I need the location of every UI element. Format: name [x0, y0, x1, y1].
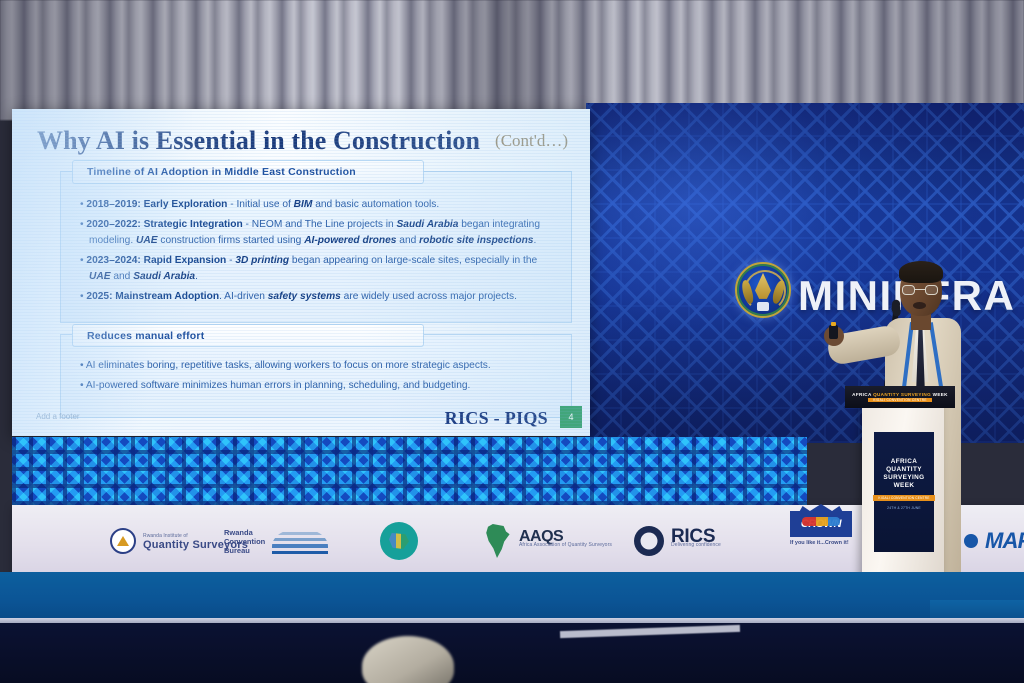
- speaker-glasses-left-lens: [902, 285, 915, 295]
- sponsor-rwanda-map: [380, 511, 418, 571]
- speaker-hair: [899, 261, 943, 283]
- curtain-shadow-right: [604, 0, 1024, 120]
- sponsor-aaqs-big: AAQS: [519, 532, 612, 541]
- sponsor-aaqs: AAQS Africa Association of Quantity Surv…: [482, 511, 612, 571]
- slide-title: Why AI is Essential in the Construction: [37, 126, 480, 156]
- sponsor-rcb-text: Rwanda Convention Bureau: [224, 528, 265, 555]
- curtain-shadow-left: [0, 0, 300, 120]
- speaker-glasses-right-lens: [925, 285, 938, 295]
- podium-banner-suffix: WEEK: [931, 392, 948, 397]
- stage-floor: [0, 572, 1024, 622]
- rics-lion-icon: [634, 526, 664, 556]
- speaker-mouth: [913, 302, 926, 309]
- list-item: AI eliminates boring, repetitive tasks, …: [80, 358, 550, 375]
- sponsor-rcb-line3: Bureau: [224, 546, 265, 555]
- list-item: 2025: Mainstream Adoption. AI-driven saf…: [80, 289, 550, 306]
- sponsor-rcb: Rwanda Convention Bureau: [224, 511, 328, 571]
- rcb-wave-icon: [272, 528, 328, 554]
- africa-map-icon: [482, 524, 512, 558]
- rwanda-coat-of-arms-emblem: [735, 262, 791, 318]
- podium-top-banner-text: AFRICA QUANTITY SURVEYING WEEK: [852, 392, 948, 397]
- crown-logo-icon: CROWN: [790, 511, 852, 537]
- rwanda-map-icon: [380, 522, 418, 560]
- presentation-clicker: [829, 325, 838, 339]
- sponsor-crown-tagline: If you like it...Crown it!: [790, 539, 849, 548]
- sponsor-rics-small: Delivering confidence: [671, 541, 721, 550]
- sponsor-rcb-line2: Convention: [224, 537, 265, 546]
- podium-panel-date: 24TH & 27TH JUNE: [887, 506, 921, 510]
- benefits-bullet-list: AI eliminates boring, repetitive tasks, …: [80, 358, 550, 397]
- speaker-glasses-bridge: [915, 289, 925, 290]
- timeline-panel-heading: Timeline of AI Adoption in Middle East C…: [72, 160, 424, 184]
- podium-panel-line-3: SURVEYING: [883, 474, 924, 481]
- podium-top-subbanner: KIGALI CONVENTION CENTRE: [868, 398, 932, 402]
- podium-panel-line-1: AFRICA: [891, 458, 918, 465]
- slide-footer-placeholder: Add a footer: [36, 412, 80, 421]
- sponsor-crown: CROWN If you like it...Crown it!: [790, 511, 852, 571]
- band-square-pattern: [12, 437, 807, 505]
- foreground-dark-area: [0, 623, 1024, 683]
- sponsor-rics: RICS Delivering confidence: [634, 511, 721, 571]
- slide-footer-brand: RICS - PIQS: [445, 408, 548, 429]
- sponsor-mapei-big: MAPEI: [985, 528, 1024, 554]
- curtain-shadow-center: [390, 0, 630, 118]
- conference-stage-photo: MININFRA Why AI is Essential in the Cons…: [0, 0, 1024, 683]
- list-item: 2023–2024: Rapid Expansion - 3D printing…: [80, 253, 550, 286]
- podium-banner-highlight: QUANTITY SURVEYING: [873, 392, 931, 397]
- podium-banner-prefix: AFRICA: [852, 392, 873, 397]
- podium-top-banner: AFRICA QUANTITY SURVEYING WEEK KIGALI CO…: [845, 386, 955, 408]
- slide-number-badge: 4: [560, 406, 582, 428]
- riqs-logo-icon: [110, 528, 136, 554]
- podium-panel-bar: KIGALI CONVENTION CENTRE: [873, 495, 934, 501]
- sponsor-mapei: MAPEI: [964, 511, 1024, 571]
- slide-continued-label: (Cont'd…): [495, 131, 568, 151]
- sponsor-rics-big: RICS: [671, 532, 721, 541]
- sponsor-aaqs-small: Africa Association of Quantity Surveyors: [519, 541, 612, 550]
- list-item: 2018–2019: Early Exploration - Initial u…: [80, 197, 550, 214]
- sponsor-aaqs-text: AAQS Africa Association of Quantity Surv…: [519, 532, 612, 550]
- imigongo-decorative-band: [12, 437, 807, 505]
- timeline-bullet-list: 2018–2019: Early Exploration - Initial u…: [80, 197, 550, 309]
- podium-panel-line-4: WEEK: [894, 482, 915, 489]
- podium-panel-line-2: QUANTITY: [886, 466, 922, 473]
- projection-screen: Why AI is Essential in the Construction …: [12, 109, 590, 436]
- list-item: 2020–2022: Strategic Integration - NEOM …: [80, 217, 550, 250]
- sponsor-rcb-line1: Rwanda: [224, 528, 265, 537]
- list-item: AI-powered software minimizes human erro…: [80, 378, 550, 395]
- benefits-panel-heading: Reduces manual effort: [72, 324, 424, 347]
- podium-front-panel: AFRICA QUANTITY SURVEYING WEEK KIGALI CO…: [874, 432, 934, 552]
- mapei-dot-icon: [964, 534, 978, 548]
- sponsor-rics-text: RICS Delivering confidence: [671, 532, 721, 550]
